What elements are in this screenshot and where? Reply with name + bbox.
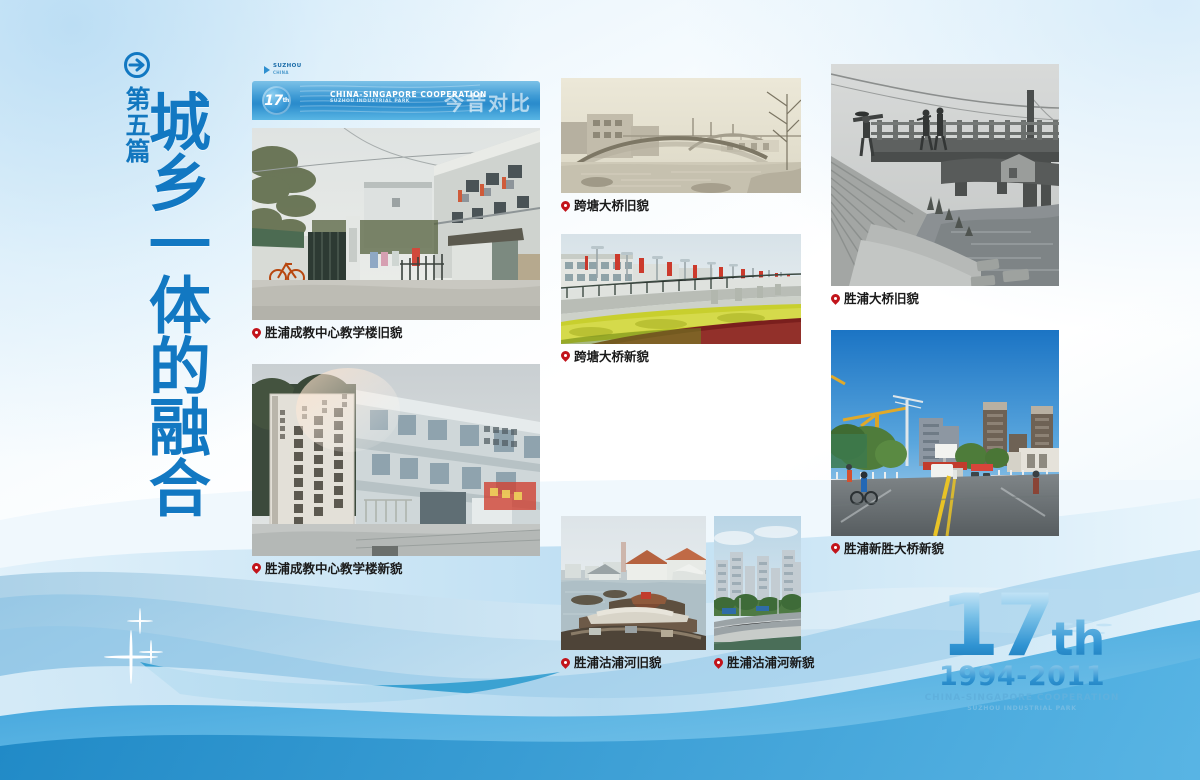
photo-b1[interactable] [561, 78, 801, 193]
caption-a1: 胜浦成教中心教学楼旧貌 [252, 327, 540, 340]
photo-b3[interactable] [561, 516, 706, 650]
photo-b4-image [714, 516, 801, 650]
page-title: 城乡一体的融合 [142, 90, 206, 517]
caption-b1-text: 跨塘大桥旧貌 [574, 200, 649, 213]
caption-a2: 胜浦成教中心教学楼新貌 [252, 563, 540, 576]
location-pin-icon [561, 351, 570, 362]
photo-b2[interactable] [561, 234, 801, 344]
caption-a1-text: 胜浦成教中心教学楼旧貌 [265, 327, 403, 340]
photo-a1-image [252, 128, 540, 320]
photo-pair-river [561, 516, 801, 650]
banner-chinese-title: 今昔对比 [444, 87, 532, 116]
location-pin-icon [561, 201, 570, 212]
photo-c1-image [831, 64, 1059, 286]
caption-c2-text: 胜浦新胜大桥新貌 [844, 543, 944, 556]
suzhou-logo: SUZHOU CHINA [264, 64, 302, 75]
photo-a2-image [252, 364, 540, 556]
triangle-icon [264, 66, 270, 74]
location-pin-icon [831, 294, 840, 305]
column-right: 胜浦大桥旧貌 [831, 64, 1059, 555]
anniversary-logo: 17th 1994-2011 CHINA-SINGAPORE COOPERATI… [922, 588, 1122, 738]
photo-a1[interactable] [252, 128, 540, 320]
caption-c1: 胜浦大桥旧貌 [831, 293, 1059, 306]
caption-c1-text: 胜浦大桥旧貌 [844, 293, 919, 306]
photo-b2-image [561, 234, 801, 344]
location-pin-icon [252, 563, 261, 574]
location-pin-icon [831, 543, 840, 554]
column-left: SUZHOU CHINA 17th [252, 64, 540, 575]
photo-b4[interactable] [714, 516, 801, 650]
caption-b2-text: 跨塘大桥新貌 [574, 351, 649, 364]
caption-b3-text: 胜浦沽浦河旧貌 [574, 657, 662, 670]
photo-c1[interactable] [831, 64, 1059, 286]
location-pin-icon [714, 658, 723, 669]
caption-b4-text: 胜浦沽浦河新貌 [727, 657, 815, 670]
photo-b3-image [561, 516, 706, 650]
photo-c2-image [831, 330, 1059, 536]
anniversary-number: 17th [922, 588, 1122, 665]
caption-c2: 胜浦新胜大桥新貌 [831, 543, 1059, 556]
suzhou-label-line2: CHINA [273, 71, 302, 75]
caption-pair-river: 胜浦沽浦河旧貌 胜浦沽浦河新貌 [561, 650, 801, 670]
title-column: 第五篇 城乡一体的融合 [112, 46, 252, 576]
poster-page: 第五篇 城乡一体的融合 SUZHOU CHINA [0, 0, 1200, 780]
banner-header: SUZHOU CHINA 17th [252, 64, 540, 120]
location-pin-icon [561, 658, 570, 669]
arrow-right-circle-icon [124, 52, 150, 78]
location-pin-icon [252, 328, 261, 339]
caption-b2: 跨塘大桥新貌 [561, 351, 801, 364]
section-banner: 17th CHINA-SINGAPORE COOPERATION SUZHOU … [252, 81, 540, 120]
caption-b3: 胜浦沽浦河旧貌 [561, 657, 706, 670]
photo-a2[interactable] [252, 364, 540, 556]
caption-a2-text: 胜浦成教中心教学楼新貌 [265, 563, 403, 576]
photo-c2[interactable] [831, 330, 1059, 536]
photo-b1-image [561, 78, 801, 193]
anniversary-line1: CHINA-SINGAPORE COOPERATION [922, 693, 1122, 703]
banner-17th-badge: 17th [262, 86, 291, 115]
column-middle: 跨塘大桥旧貌 [561, 78, 801, 670]
caption-b1: 跨塘大桥旧貌 [561, 200, 801, 213]
suzhou-label-line1: SUZHOU [273, 64, 302, 70]
caption-b4: 胜浦沽浦河新貌 [714, 657, 801, 670]
anniversary-line2: SUZHOU INDUSTRIAL PARK [922, 705, 1122, 712]
